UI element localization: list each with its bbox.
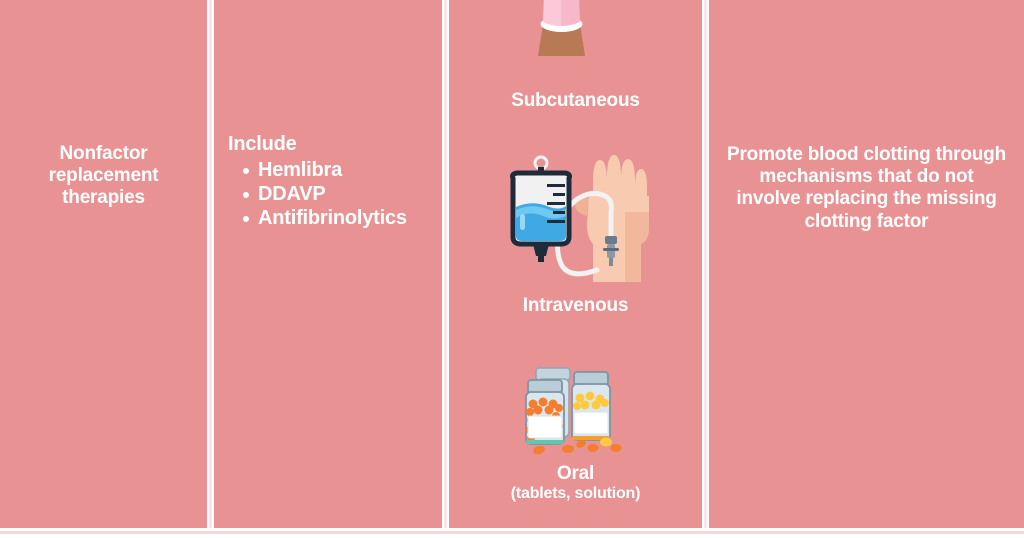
column-mechanism: Promote blood clotting through mechanism… (709, 0, 1024, 528)
list-item: Antifibrinolytics (258, 206, 442, 230)
route-label-text: Intravenous (523, 295, 629, 316)
examples-list: Hemlibra DDAVP Antifibrinolytics (228, 158, 442, 230)
column-category: Nonfactor replacement therapies (0, 0, 207, 528)
route-label-text: Oral (557, 463, 594, 484)
mechanism-description: Promote blood clotting through mechanism… (709, 144, 1024, 233)
route-sublabel-text: (tablets, solution) (449, 485, 702, 503)
column-examples: Include Hemlibra DDAVP Antifibrinolytics (214, 0, 442, 528)
route-label-text: Subcutaneous (511, 90, 640, 111)
iv-drip-bag-icon (497, 152, 655, 282)
pill-bottles-icon (506, 358, 646, 458)
list-item: Hemlibra (258, 158, 442, 182)
infographic-root: Nonfactor replacement therapies Include … (0, 0, 1024, 538)
category-title: Nonfactor replacement therapies (0, 143, 207, 210)
column-divider-1 (209, 0, 212, 528)
bottom-divider (0, 531, 1024, 534)
column-divider-3 (704, 0, 707, 528)
examples-heading: Include (228, 133, 442, 156)
route-label-oral: Oral (tablets, solution) (449, 463, 702, 503)
examples-block: Include Hemlibra DDAVP Antifibrinolytics (228, 133, 442, 230)
arm-injection-icon (449, 0, 702, 56)
route-label-intravenous: Intravenous (449, 295, 702, 317)
column-routes: Subcutaneous (449, 0, 702, 528)
column-divider-2 (444, 0, 447, 528)
route-label-subcutaneous: Subcutaneous (449, 90, 702, 112)
list-item: DDAVP (258, 182, 442, 206)
